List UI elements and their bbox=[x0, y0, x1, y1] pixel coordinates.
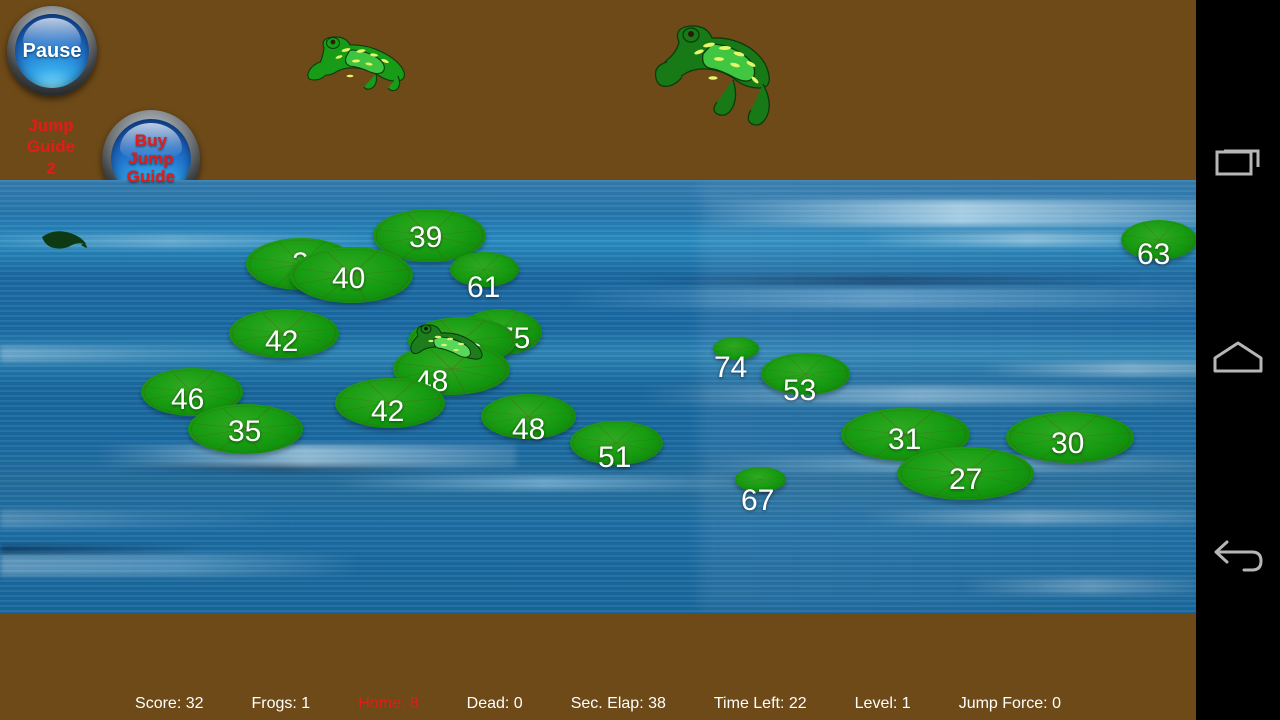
game-screen: Pause Jump Guide 2 Buy Jump Guide bbox=[0, 0, 1280, 720]
buy-jump-guide-line-1: Buy bbox=[135, 131, 167, 150]
water-streak bbox=[980, 362, 1196, 376]
buy-jump-guide-label: Buy Jump Guide bbox=[127, 132, 175, 186]
jump-guide-line-3: 2 bbox=[12, 158, 90, 179]
status-jump-force: Jump Force: 0 bbox=[959, 695, 1061, 713]
water-streak bbox=[860, 510, 1196, 524]
lilypad-number: 67 bbox=[741, 484, 774, 518]
pond-play-area[interactable]: 39240616342752464842354851745331302767 bbox=[0, 180, 1196, 613]
lilypad-number: 30 bbox=[1051, 427, 1084, 461]
back-button[interactable] bbox=[1196, 515, 1280, 599]
lilypad-number: 42 bbox=[371, 395, 404, 429]
buy-jump-guide-line-2: Jump bbox=[128, 149, 173, 168]
recent-apps-button[interactable] bbox=[1196, 118, 1280, 202]
lilypad-number: 35 bbox=[228, 415, 261, 449]
water-streak bbox=[120, 463, 440, 471]
lilypad[interactable]: 27 bbox=[897, 447, 1034, 500]
lilypad-number: 53 bbox=[783, 374, 816, 408]
water-streak bbox=[0, 510, 300, 528]
status-row: Score: 32Frogs: 1Home: 8Dead: 0Sec. Elap… bbox=[0, 695, 1196, 713]
water-streak bbox=[330, 476, 760, 490]
water-streak bbox=[96, 445, 516, 467]
lilypad-number: 42 bbox=[265, 325, 298, 359]
top-bar: Pause Jump Guide 2 Buy Jump Guide bbox=[0, 0, 1196, 180]
lilypad[interactable]: 51 bbox=[570, 421, 663, 465]
frog-icon bbox=[655, 18, 780, 136]
water-streak bbox=[620, 276, 1140, 285]
lilypad-number: 63 bbox=[1137, 238, 1170, 272]
jump-guide-line-1: Jump bbox=[12, 115, 90, 136]
back-arrow-icon bbox=[1212, 536, 1264, 578]
lilypad[interactable]: 61 bbox=[450, 252, 519, 287]
status-time-left: Time Left: 22 bbox=[714, 695, 807, 713]
lilypad-number: 27 bbox=[949, 463, 982, 497]
frog-icon bbox=[306, 30, 416, 92]
frog-family-app: Pause Jump Guide 2 Buy Jump Guide bbox=[0, 0, 1196, 720]
lilypad[interactable]: 35 bbox=[188, 404, 303, 454]
lilypad-number: 48 bbox=[512, 413, 545, 447]
recent-apps-icon bbox=[1214, 140, 1262, 180]
status-level: Level: 1 bbox=[855, 695, 911, 713]
lilypad-number: 40 bbox=[332, 262, 365, 296]
water-streak bbox=[0, 554, 360, 576]
lilypad-number: 39 bbox=[409, 221, 442, 255]
lilypad[interactable]: 48 bbox=[481, 394, 576, 439]
lilypad[interactable]: 74 bbox=[713, 337, 759, 360]
pause-button-label: Pause bbox=[23, 41, 82, 62]
status-score: Score: 32 bbox=[135, 695, 203, 713]
status-home: Home: 8 bbox=[358, 695, 418, 713]
home-button[interactable] bbox=[1196, 315, 1280, 399]
lilypad-number: 51 bbox=[598, 441, 631, 475]
lilypad[interactable]: 30 bbox=[1006, 412, 1134, 463]
water-streak bbox=[960, 578, 1196, 594]
fish-silhouette-icon bbox=[40, 228, 88, 254]
status-sec-elap: Sec. Elap: 38 bbox=[571, 695, 666, 713]
lilypad[interactable]: 63 bbox=[1121, 220, 1196, 260]
frog-icon[interactable] bbox=[408, 320, 486, 364]
home-icon bbox=[1212, 340, 1264, 374]
lilypad-number: 46 bbox=[171, 383, 204, 417]
buy-jump-guide-line-3: Guide bbox=[127, 167, 175, 186]
pause-button[interactable]: Pause bbox=[7, 6, 97, 96]
status-frogs: Frogs: 1 bbox=[252, 695, 311, 713]
lilypad[interactable]: 42 bbox=[229, 309, 339, 358]
lilypad[interactable]: 40 bbox=[290, 247, 413, 303]
water-streak bbox=[0, 546, 200, 553]
lilypad[interactable]: 53 bbox=[761, 353, 850, 395]
lilypad-number: 74 bbox=[714, 351, 747, 385]
android-navigation-bar bbox=[1196, 0, 1280, 720]
water-streak bbox=[640, 386, 1196, 404]
lilypad-number: 61 bbox=[467, 271, 500, 305]
water-streak bbox=[700, 200, 1196, 226]
jump-guide-line-2: Guide bbox=[12, 136, 90, 157]
lilypad[interactable]: 42 bbox=[335, 378, 445, 428]
lilypad[interactable]: 67 bbox=[735, 467, 786, 492]
bottom-bar: Score: 32Frogs: 1Home: 8Dead: 0Sec. Elap… bbox=[0, 613, 1196, 720]
water-streak bbox=[560, 288, 1196, 308]
status-dead: Dead: 0 bbox=[467, 695, 523, 713]
lilypad-number: 31 bbox=[888, 423, 921, 457]
jump-guide-counter: Jump Guide 2 bbox=[12, 115, 90, 179]
